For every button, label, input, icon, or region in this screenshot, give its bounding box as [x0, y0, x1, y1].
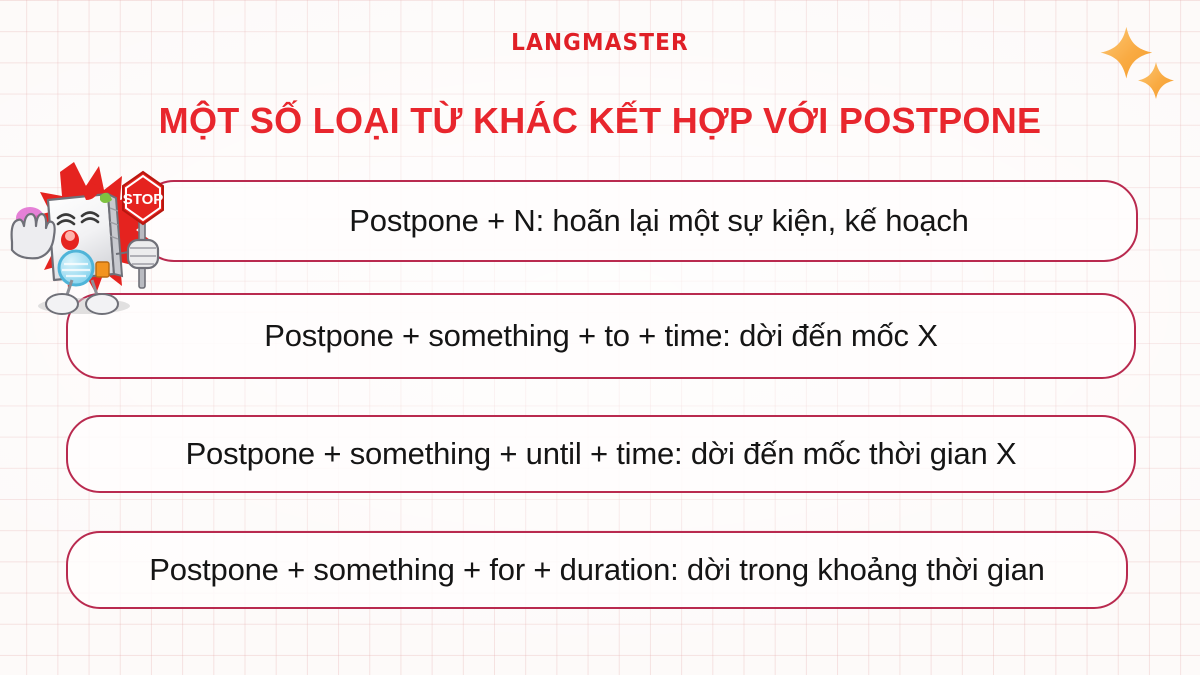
rule-text-3: Postpone + something + until + time: dời… — [68, 436, 1134, 472]
mascot-artwork: STOP — [4, 156, 184, 316]
rule-box-2: Postpone + something + to + time: dời đế… — [66, 293, 1136, 379]
sparkle-decoration — [1096, 18, 1182, 104]
rule-text-4: Postpone + something + for + duration: d… — [68, 552, 1126, 588]
book-mascot-stop-sign-icon: STOP — [4, 156, 184, 316]
rule-text-2: Postpone + something + to + time: dời đế… — [68, 318, 1134, 354]
rule-box-3: Postpone + something + until + time: dời… — [66, 415, 1136, 493]
rule-box-1: Postpone + N: hoãn lại một sự kiện, kế h… — [140, 180, 1138, 262]
page-title: MỘT SỐ LOẠI TỪ KHÁC KẾT HỢP VỚI POSTPONE — [0, 100, 1200, 142]
rule-box-4: Postpone + something + for + duration: d… — [66, 531, 1128, 609]
fist — [128, 240, 158, 268]
rule-text-1: Postpone + N: hoãn lại một sự kiện, kế h… — [142, 203, 1136, 239]
stop-sign-label: STOP — [123, 191, 164, 208]
sparkle-star-icon — [1096, 18, 1182, 104]
brand-wordmark: LANGMASTER — [36, 30, 1164, 56]
